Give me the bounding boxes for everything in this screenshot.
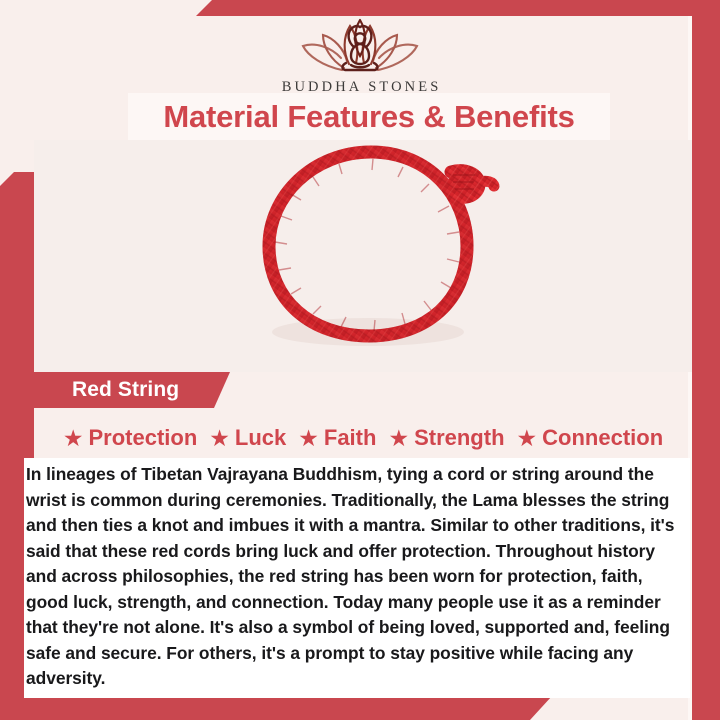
product-photo [34, 140, 692, 372]
feature-label: Luck [235, 425, 286, 451]
feature-strength: ★ Strength [383, 425, 509, 451]
card-canvas: BUDDHA STONES Material Features & Benefi… [0, 0, 720, 720]
feature-luck: ★ Luck [204, 425, 291, 451]
star-icon: ★ [209, 427, 230, 450]
description-block: In lineages of Tibetan Vajrayana Buddhis… [24, 458, 690, 698]
description-text: In lineages of Tibetan Vajrayana Buddhis… [24, 462, 690, 692]
star-icon: ★ [517, 427, 538, 450]
feature-label: Faith [324, 425, 377, 451]
brand-logo: BUDDHA STONES [0, 14, 720, 96]
features-row: ★ Protection ★ Luck ★ Faith ★ Strength ★… [34, 418, 692, 458]
feature-label: Protection [88, 425, 197, 451]
star-icon: ★ [298, 427, 319, 450]
title-banner: Material Features & Benefits [128, 93, 610, 140]
feature-faith: ★ Faith [293, 425, 381, 451]
feature-protection: ★ Protection [58, 425, 202, 451]
product-label: Red String [72, 378, 179, 402]
infographic-card: BUDDHA STONES Material Features & Benefi… [0, 0, 720, 720]
feature-label: Connection [542, 425, 663, 451]
feature-connection: ★ Connection [512, 425, 669, 451]
red-string-bracelet-image [229, 140, 519, 372]
lotus-meditation-figure-icon [297, 14, 423, 76]
star-icon: ★ [63, 427, 84, 450]
page-title: Material Features & Benefits [163, 99, 574, 135]
feature-label: Strength [414, 425, 504, 451]
product-label-banner: Red String [34, 372, 230, 408]
star-icon: ★ [388, 427, 409, 450]
